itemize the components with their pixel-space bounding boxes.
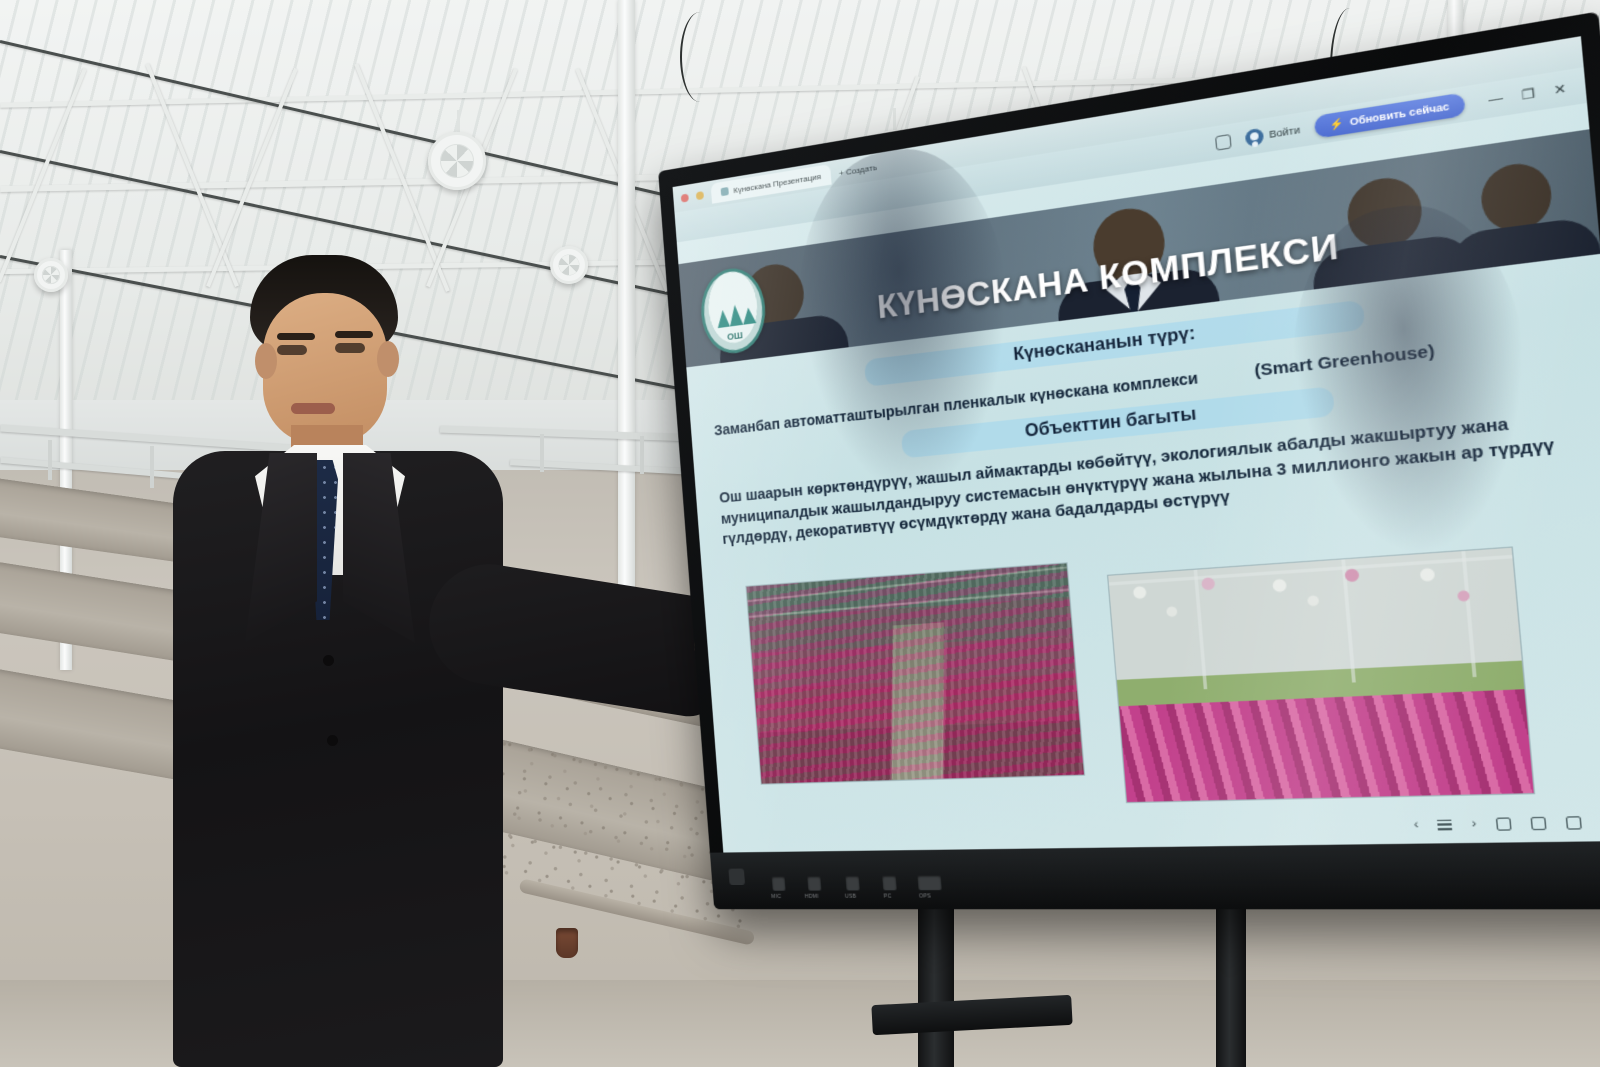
petunia-field	[1119, 690, 1534, 802]
port-usb[interactable]	[845, 876, 859, 891]
copy-icon[interactable]	[1215, 133, 1232, 150]
bench-leg	[48, 440, 52, 480]
present-icon[interactable]	[1530, 816, 1546, 829]
photo-post	[1341, 559, 1356, 682]
display-brand-logo	[728, 869, 745, 885]
mouth	[291, 403, 335, 414]
page-icon[interactable]	[1496, 817, 1512, 830]
update-label: Обновить сейчас	[1349, 101, 1449, 128]
slide-photo-right	[1107, 546, 1535, 803]
maximize-button[interactable]: ❐	[1521, 85, 1536, 102]
slide-photo-left	[745, 562, 1085, 784]
port-pc[interactable]	[882, 876, 897, 891]
bolt-icon: ⚡	[1329, 117, 1344, 132]
face	[263, 293, 387, 445]
photo-aisle	[891, 622, 944, 780]
emblem-text: ОШ	[727, 330, 743, 342]
signin-label: Войти	[1269, 124, 1301, 140]
slide-navigation-toolbar: ‹ ›	[1413, 814, 1600, 832]
minimize-button[interactable]: —	[1488, 91, 1504, 107]
next-slide-button[interactable]: ›	[1471, 817, 1477, 831]
eyebrow	[335, 331, 373, 338]
screenshot-root: Күнөскана Презентация + Создать Войти ⚡ …	[0, 0, 1600, 1067]
circulation-fan	[428, 132, 486, 190]
jacket-button	[327, 735, 338, 746]
window-dot-minimize[interactable]	[696, 191, 704, 200]
window-controls: — ❐ ✕	[1488, 80, 1567, 108]
photo-frame-bar	[749, 589, 1069, 618]
port-hdmi[interactable]	[807, 876, 821, 891]
signin-button[interactable]: Войти	[1244, 121, 1300, 146]
eyebrow	[277, 333, 315, 340]
presenter-person	[95, 255, 715, 1067]
display-stand-column	[1216, 886, 1246, 1067]
jacket-button	[323, 655, 334, 666]
hanging-cable	[680, 12, 720, 102]
port-ops[interactable]	[917, 875, 941, 890]
window-dot-close[interactable]	[681, 194, 689, 203]
photo-post	[1194, 570, 1208, 690]
ear	[377, 341, 399, 377]
photo-post	[1461, 551, 1476, 677]
display-bottom-bezel: MIC HDMI USB PC OPS	[710, 840, 1600, 909]
ear	[255, 343, 277, 379]
prev-slide-button[interactable]: ‹	[1413, 818, 1419, 832]
circulation-fan	[34, 258, 68, 292]
photo-frame-bar	[1109, 555, 1513, 586]
split-view-icon[interactable]	[1566, 816, 1582, 830]
port-mic[interactable]	[772, 876, 786, 890]
account-avatar-icon	[1244, 127, 1264, 147]
favicon-icon	[721, 187, 729, 196]
outline-icon[interactable]	[1437, 819, 1452, 830]
photo-frame-bar	[748, 566, 1067, 602]
close-button[interactable]: ✕	[1553, 80, 1567, 97]
